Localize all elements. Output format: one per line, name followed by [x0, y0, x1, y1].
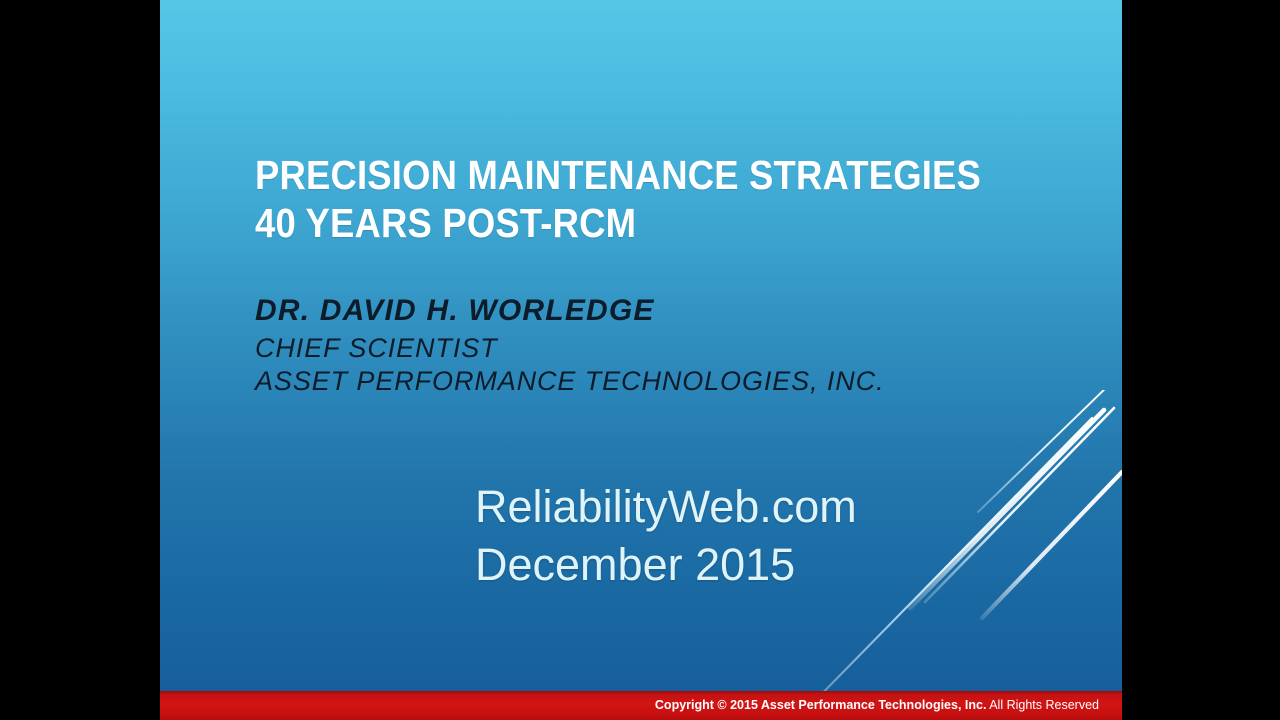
letterbox-bar-left	[0, 0, 160, 720]
presenter-block: DR. DAVID H. WORLEDGE CHIEF SCIENTIST AS…	[255, 295, 1085, 398]
presentation-slide: PRECISION MAINTENANCE STRATEGIES 40 YEAR…	[160, 0, 1122, 720]
title-line-primary: PRECISION MAINTENANCE STRATEGIES	[255, 155, 1002, 196]
copyright-notice: Copyright © 2015 Asset Performance Techn…	[655, 698, 987, 712]
presenter-organization: ASSET PERFORMANCE TECHNOLOGIES, INC.	[255, 365, 1085, 398]
copyright-bar: Copyright © 2015 Asset Performance Techn…	[160, 691, 1122, 720]
letterbox-bar-right	[1122, 0, 1280, 720]
video-player-viewport: PRECISION MAINTENANCE STRATEGIES 40 YEAR…	[0, 0, 1280, 720]
event-host: ReliabilityWeb.com	[475, 478, 1075, 536]
title-line-secondary: 40 YEARS POST-RCM	[255, 203, 1002, 244]
presenter-role: CHIEF SCIENTIST	[255, 332, 1085, 365]
rights-reserved-text: All Rights Reserved	[986, 698, 1099, 712]
event-date: December 2015	[475, 536, 1075, 594]
copyright-text: Copyright © 2015 Asset Performance Techn…	[655, 699, 1099, 712]
presenter-name: DR. DAVID H. WORLEDGE	[255, 295, 1085, 327]
event-block: ReliabilityWeb.com December 2015	[475, 478, 1075, 593]
slide-title: PRECISION MAINTENANCE STRATEGIES 40 YEAR…	[255, 155, 1085, 243]
